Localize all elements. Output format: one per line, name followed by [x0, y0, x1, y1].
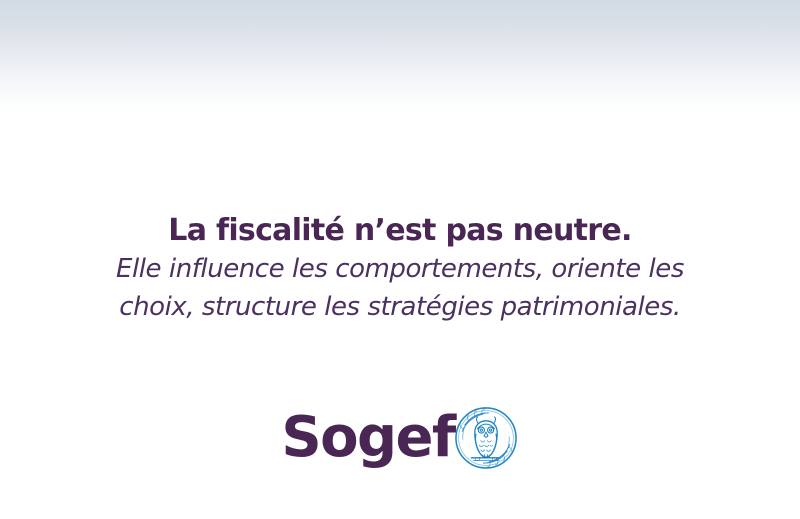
subheadline-line-2: choix, structure les stratégies patrimon… — [0, 288, 800, 326]
headline-text: La fiscalité n’est pas neutre. — [0, 213, 800, 249]
logo-wordmark-text: Sogef — [281, 408, 454, 468]
subheadline-line-1: Elle influence les comportements, orient… — [0, 250, 800, 288]
owl-in-wreath-icon — [453, 405, 519, 471]
brand-logo: Sogef — [0, 398, 800, 476]
promotional-slide: La fiscalité n’est pas neutre. Elle infl… — [0, 0, 800, 519]
subheadline-text: Elle influence les comportements, orient… — [0, 250, 800, 326]
slide-content: La fiscalité n’est pas neutre. Elle infl… — [0, 0, 800, 519]
